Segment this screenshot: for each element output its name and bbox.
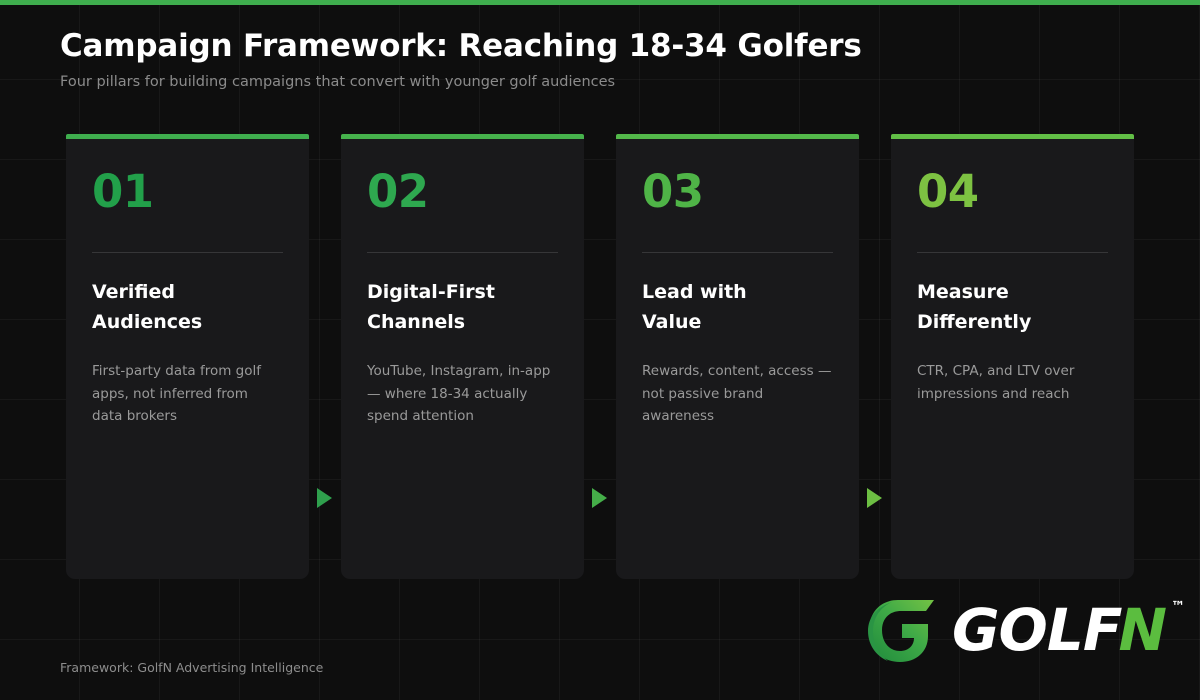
- card-divider-02: [367, 252, 558, 253]
- card-accent-bar-03: [616, 134, 859, 139]
- trademark-symbol: ™: [1171, 599, 1185, 615]
- flow-arrow-icon-2: [592, 488, 607, 508]
- top-accent-bar: [0, 0, 1200, 5]
- flow-arrow-icon-1: [317, 488, 332, 508]
- golfn-wordmark: GOLF N ™: [952, 601, 1166, 659]
- card-number-03: 03: [642, 169, 833, 214]
- card-body-01: First-party data from golf apps, not inf…: [92, 360, 282, 428]
- header: Campaign Framework: Reaching 18-34 Golfe…: [60, 28, 862, 90]
- card-body-02: YouTube, Instagram, in-app — where 18-34…: [367, 360, 557, 428]
- card-heading-03: Lead with Value: [642, 277, 812, 337]
- card-divider-03: [642, 252, 833, 253]
- pillar-card-02[interactable]: 02 Digital-First Channels YouTube, Insta…: [341, 139, 584, 579]
- footer-note: Framework: GolfN Advertising Intelligenc…: [60, 660, 323, 675]
- logo-word-golf: GOLF: [952, 601, 1122, 659]
- flow-arrow-icon-3: [867, 488, 882, 508]
- card-heading-01: Verified Audiences: [92, 277, 262, 337]
- card-body-03: Rewards, content, access — not passive b…: [642, 360, 832, 428]
- golfn-logo: GOLF N ™: [864, 592, 1166, 668]
- card-body-04: CTR, CPA, and LTV over impressions and r…: [917, 360, 1107, 405]
- card-heading-04: Measure Differently: [917, 277, 1087, 337]
- card-divider-04: [917, 252, 1108, 253]
- logo-word-n: N: [1118, 601, 1166, 659]
- card-accent-bar-04: [891, 134, 1134, 139]
- card-number-02: 02: [367, 169, 558, 214]
- pillar-card-01[interactable]: 01 Verified Audiences First-party data f…: [66, 139, 309, 579]
- pillar-card-03[interactable]: 03 Lead with Value Rewards, content, acc…: [616, 139, 859, 579]
- page-title: Campaign Framework: Reaching 18-34 Golfe…: [60, 28, 862, 65]
- card-number-01: 01: [92, 169, 283, 214]
- card-number-04: 04: [917, 169, 1108, 214]
- card-accent-bar-01: [66, 134, 309, 139]
- infographic-page: Campaign Framework: Reaching 18-34 Golfe…: [0, 0, 1200, 700]
- page-subtitle: Four pillars for building campaigns that…: [60, 74, 862, 90]
- card-accent-bar-02: [341, 134, 584, 139]
- golfn-g-mark-icon: [864, 594, 942, 666]
- pillar-cards: 01 Verified Audiences First-party data f…: [66, 139, 1134, 579]
- card-divider-01: [92, 252, 283, 253]
- pillar-card-04[interactable]: 04 Measure Differently CTR, CPA, and LTV…: [891, 139, 1134, 579]
- card-heading-02: Digital-First Channels: [367, 277, 537, 337]
